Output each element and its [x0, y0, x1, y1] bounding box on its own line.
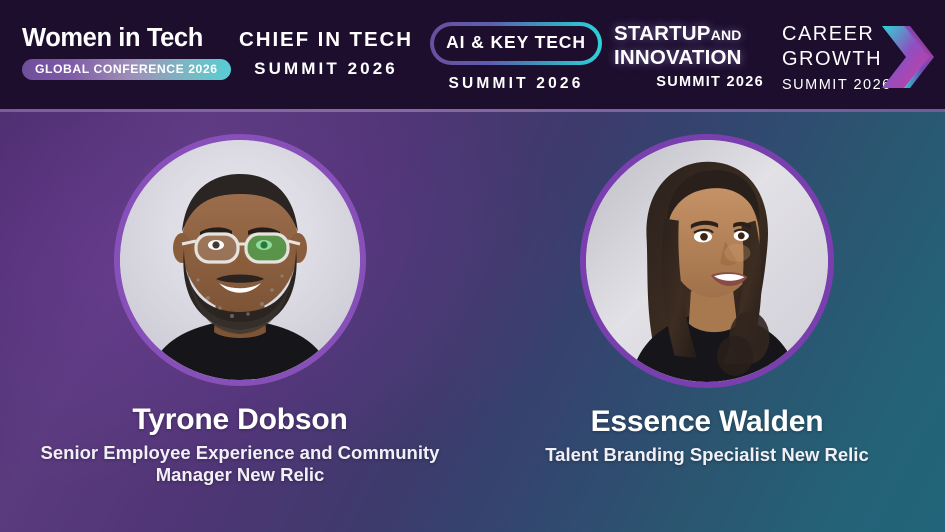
- ai-key-tech-line1: AI & KEY TECH: [430, 22, 602, 65]
- logo-career-growth: CAREER GROWTH SUMMIT 2026: [782, 24, 942, 93]
- logo-startup-and-innovation: STARTUPAND INNOVATION SUMMIT 2026: [614, 24, 766, 90]
- startup-innovation-line1-small: AND: [711, 27, 742, 43]
- chief-in-tech-line2: SUMMIT 2026: [238, 60, 414, 77]
- women-in-tech-pill: GLOBAL CONFERENCE 2026: [22, 59, 231, 80]
- portrait-tyrone-dobson: [120, 140, 360, 380]
- speaker-card-1: Tyrone Dobson Senior Employee Experience…: [10, 134, 470, 486]
- women-in-tech-title: Women in Tech: [22, 26, 222, 52]
- chief-in-tech-line1: CHIEF IN TECH: [238, 30, 414, 51]
- logo-ai-and-key-tech: AI & KEY TECH SUMMIT 2026: [430, 22, 602, 91]
- speaker-name: Tyrone Dobson: [10, 403, 470, 437]
- conference-logo-bar: Women in Tech GLOBAL CONFERENCE 2026 CHI…: [0, 0, 945, 112]
- startup-innovation-line1-main: STARTUP: [614, 22, 711, 45]
- speaker-card-2: Essence Walden Talent Branding Specialis…: [478, 134, 936, 466]
- double-chevron-right-icon: [880, 22, 934, 92]
- speakers-stage: Tyrone Dobson Senior Employee Experience…: [0, 112, 945, 532]
- speaker-name: Essence Walden: [478, 405, 936, 439]
- logo-women-in-tech: Women in Tech GLOBAL CONFERENCE 2026: [22, 26, 222, 80]
- speaker-role: Talent Branding Specialist New Relic: [478, 444, 936, 466]
- portrait-essence-walden: [586, 140, 828, 382]
- logo-chief-in-tech: CHIEF IN TECH SUMMIT 2026: [238, 30, 414, 77]
- avatar: [580, 134, 834, 388]
- startup-innovation-line3: SUMMIT 2026: [614, 75, 766, 90]
- startup-innovation-line2: INNOVATION: [614, 48, 766, 69]
- ai-key-tech-line2: SUMMIT 2026: [430, 76, 602, 92]
- speaker-announcement-slide: Women in Tech GLOBAL CONFERENCE 2026 CHI…: [0, 0, 945, 532]
- speaker-role: Senior Employee Experience and Community…: [10, 442, 470, 486]
- startup-innovation-line1: STARTUPAND: [614, 24, 766, 45]
- avatar: [114, 134, 366, 386]
